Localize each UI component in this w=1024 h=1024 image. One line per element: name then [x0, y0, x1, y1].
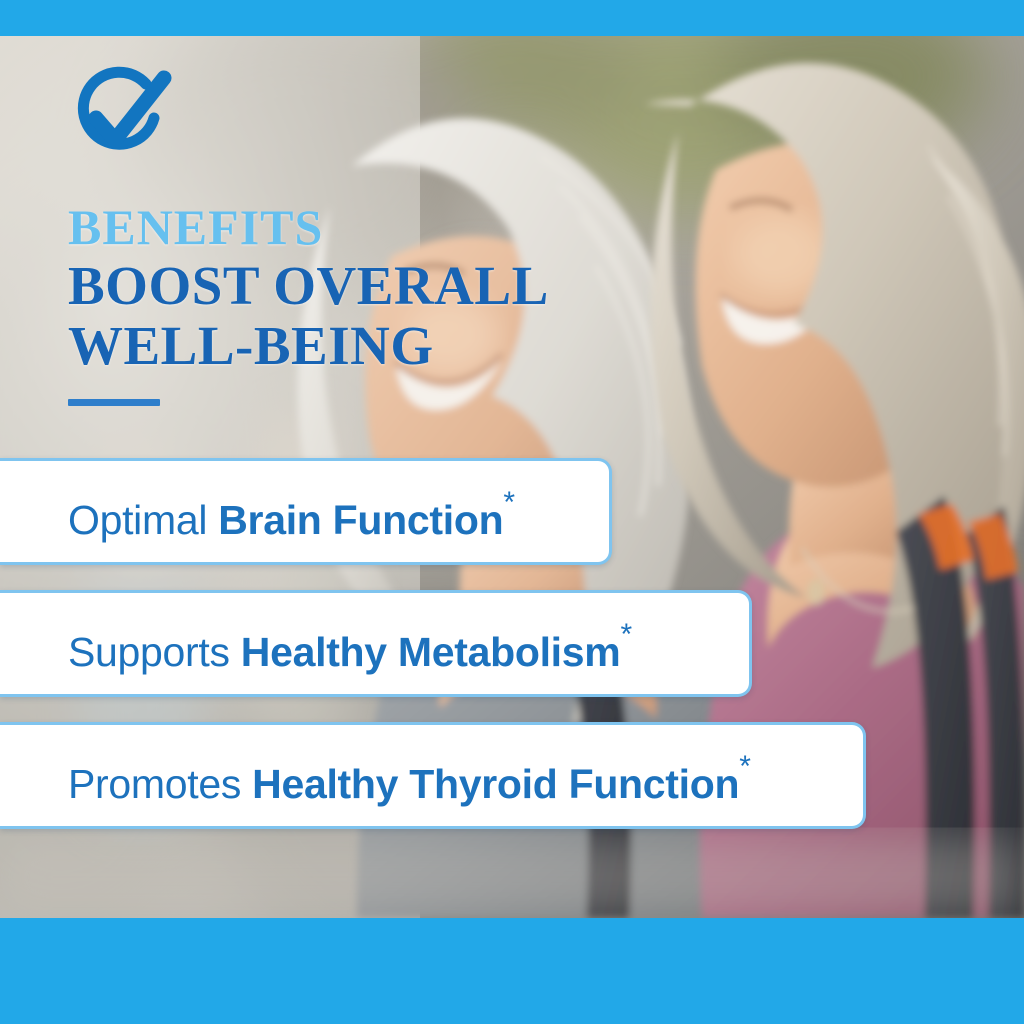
- bottom-accent-band: [0, 918, 1024, 1024]
- benefit-bar-3: Promotes Healthy Thyroid Function*: [0, 722, 866, 829]
- headline-line-1: BOOST OVERALL: [68, 258, 768, 314]
- benefit-text-2: Supports Healthy Metabolism*: [0, 581, 632, 706]
- headline-line-2: WELL-BEING: [68, 318, 768, 374]
- benefit-bar-2: Supports Healthy Metabolism*: [0, 590, 752, 697]
- benefit-2-asterisk: *: [620, 618, 631, 651]
- benefit-1-asterisk: *: [503, 486, 514, 519]
- benefit-text-1: Optimal Brain Function*: [0, 449, 515, 574]
- benefit-3-bold: Healthy Thyroid Function: [252, 761, 739, 807]
- benefit-3-regular: Promotes: [68, 761, 252, 807]
- benefit-list: Optimal Brain Function* Supports Healthy…: [0, 458, 866, 829]
- benefit-text-3: Promotes Healthy Thyroid Function*: [0, 713, 751, 838]
- promo-card: BENEFITS BOOST OVERALL WELL-BEING Optima…: [0, 0, 1024, 1024]
- headline-divider: [68, 399, 160, 406]
- benefit-1-bold: Brain Function: [218, 497, 503, 543]
- benefit-bar-1: Optimal Brain Function*: [0, 458, 612, 565]
- check-circle-icon: [68, 62, 172, 166]
- top-accent-band: [0, 0, 1024, 36]
- benefit-1-regular: Optimal: [68, 497, 218, 543]
- benefit-3-asterisk: *: [739, 750, 750, 783]
- hero-text-block: BENEFITS BOOST OVERALL WELL-BEING: [68, 62, 768, 406]
- benefit-2-bold: Healthy Metabolism: [241, 629, 621, 675]
- benefit-2-regular: Supports: [68, 629, 241, 675]
- eyebrow-label: BENEFITS: [68, 200, 768, 254]
